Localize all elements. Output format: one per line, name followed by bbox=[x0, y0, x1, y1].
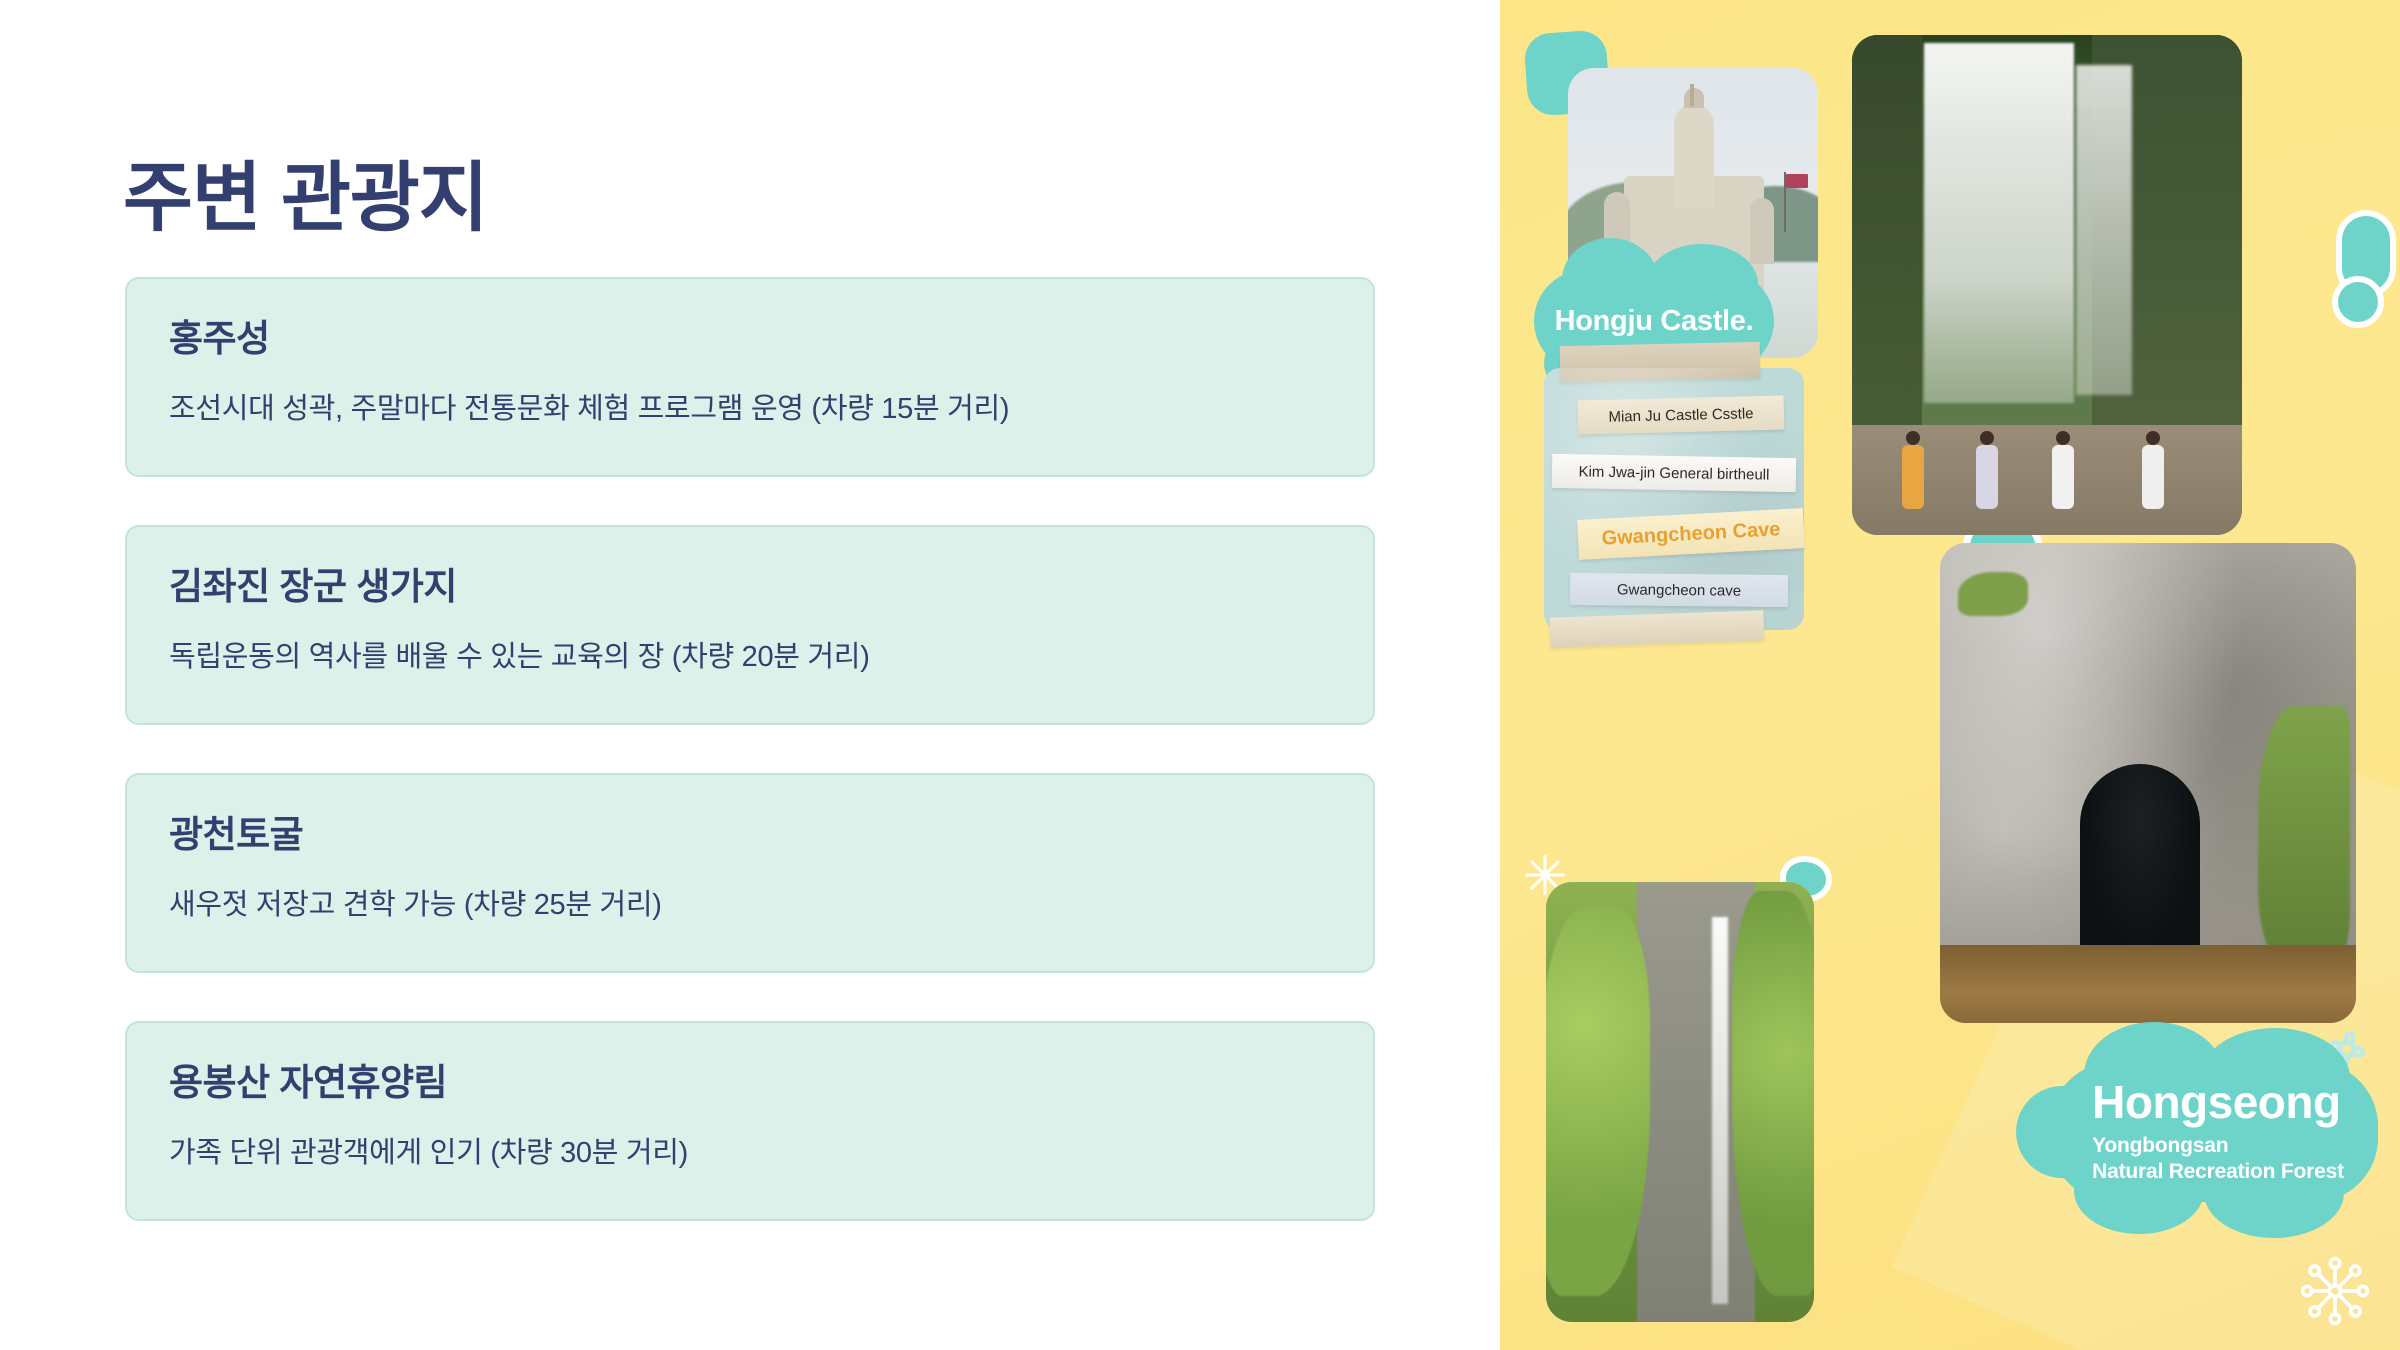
attraction-card[interactable]: 김좌진 장군 생가지 독립운동의 역사를 배울 수 있는 교육의 장 (차량 2… bbox=[125, 525, 1375, 725]
paper-label: Gwangcheon cave bbox=[1570, 573, 1788, 607]
attraction-description: 조선시대 성곽, 주말마다 전통문화 체험 프로그램 운영 (차량 15분 거리… bbox=[169, 391, 1331, 429]
attraction-card-list: 홍주성 조선시대 성곽, 주말마다 전통문화 체험 프로그램 운영 (차량 15… bbox=[125, 277, 1375, 1269]
attraction-name: 용봉산 자연휴양림 bbox=[169, 1061, 1331, 1105]
snowflake-icon bbox=[2298, 1254, 2372, 1328]
attraction-name: 홍주성 bbox=[169, 317, 1331, 361]
attraction-name: 김좌진 장군 생가지 bbox=[169, 565, 1331, 609]
wood-strip-decoration bbox=[1550, 610, 1765, 647]
attraction-description: 새우젓 저장고 견학 가능 (차량 25분 거리) bbox=[169, 887, 1331, 925]
photo-image bbox=[1546, 882, 1814, 1322]
hongseong-subtitle-line1: Yongbongsan bbox=[2092, 1133, 2344, 1159]
attraction-card[interactable]: 광천토굴 새우젓 저장고 견학 가능 (차량 25분 거리) bbox=[125, 773, 1375, 973]
paper-label-highlighted: Gwangcheon Cave bbox=[1577, 508, 1805, 560]
photo-waterfall bbox=[1852, 35, 2242, 535]
cloud-label-hongseong: Hongseong Yongbongsan Natural Recreation… bbox=[2050, 1062, 2378, 1202]
hongseong-subtitle-line2: Natural Recreation Forest bbox=[2092, 1159, 2344, 1185]
content-pane: 주변 관광지 홍주성 조선시대 성곽, 주말마다 전통문화 체험 프로그램 운영… bbox=[0, 0, 1500, 1350]
cloud-label-text: Hongju Castle. bbox=[1555, 305, 1754, 338]
photo-yongbongsan-forest bbox=[1546, 882, 1814, 1322]
attraction-description: 가족 단위 관광객에게 인기 (차량 30분 거리) bbox=[169, 1135, 1331, 1173]
attraction-card[interactable]: 용봉산 자연휴양림 가족 단위 관광객에게 인기 (차량 30분 거리) bbox=[125, 1021, 1375, 1221]
hongseong-title: Hongseong bbox=[2092, 1079, 2344, 1125]
slide-root: 주변 관광지 홍주성 조선시대 성곽, 주말마다 전통문화 체험 프로그램 운영… bbox=[0, 0, 2400, 1350]
blob-sticker-icon bbox=[2342, 216, 2390, 292]
page-title: 주변 관광지 bbox=[123, 159, 488, 239]
paper-label-stack: Mian Ju Castle Csstle Kim Jwa-jin Genera… bbox=[1544, 368, 1804, 630]
photo-gwangcheon-cave bbox=[1940, 543, 2356, 1023]
paper-label: Mian Ju Castle Csstle bbox=[1578, 395, 1785, 434]
paper-label: Kim Jwa-jin General birtheull bbox=[1552, 454, 1797, 492]
photo-collage-panel: Hongju Castle. Mian Ju Castle Csstle Kim… bbox=[1500, 0, 2400, 1350]
attraction-name: 광천토굴 bbox=[169, 813, 1331, 857]
photo-image bbox=[1940, 543, 2356, 1023]
wood-strip-decoration bbox=[1560, 342, 1761, 382]
photo-image bbox=[1852, 35, 2242, 535]
attraction-description: 독립운동의 역사를 배울 수 있는 교육의 장 (차량 20분 거리) bbox=[169, 639, 1331, 677]
attraction-card[interactable]: 홍주성 조선시대 성곽, 주말마다 전통문화 체험 프로그램 운영 (차량 15… bbox=[125, 277, 1375, 477]
